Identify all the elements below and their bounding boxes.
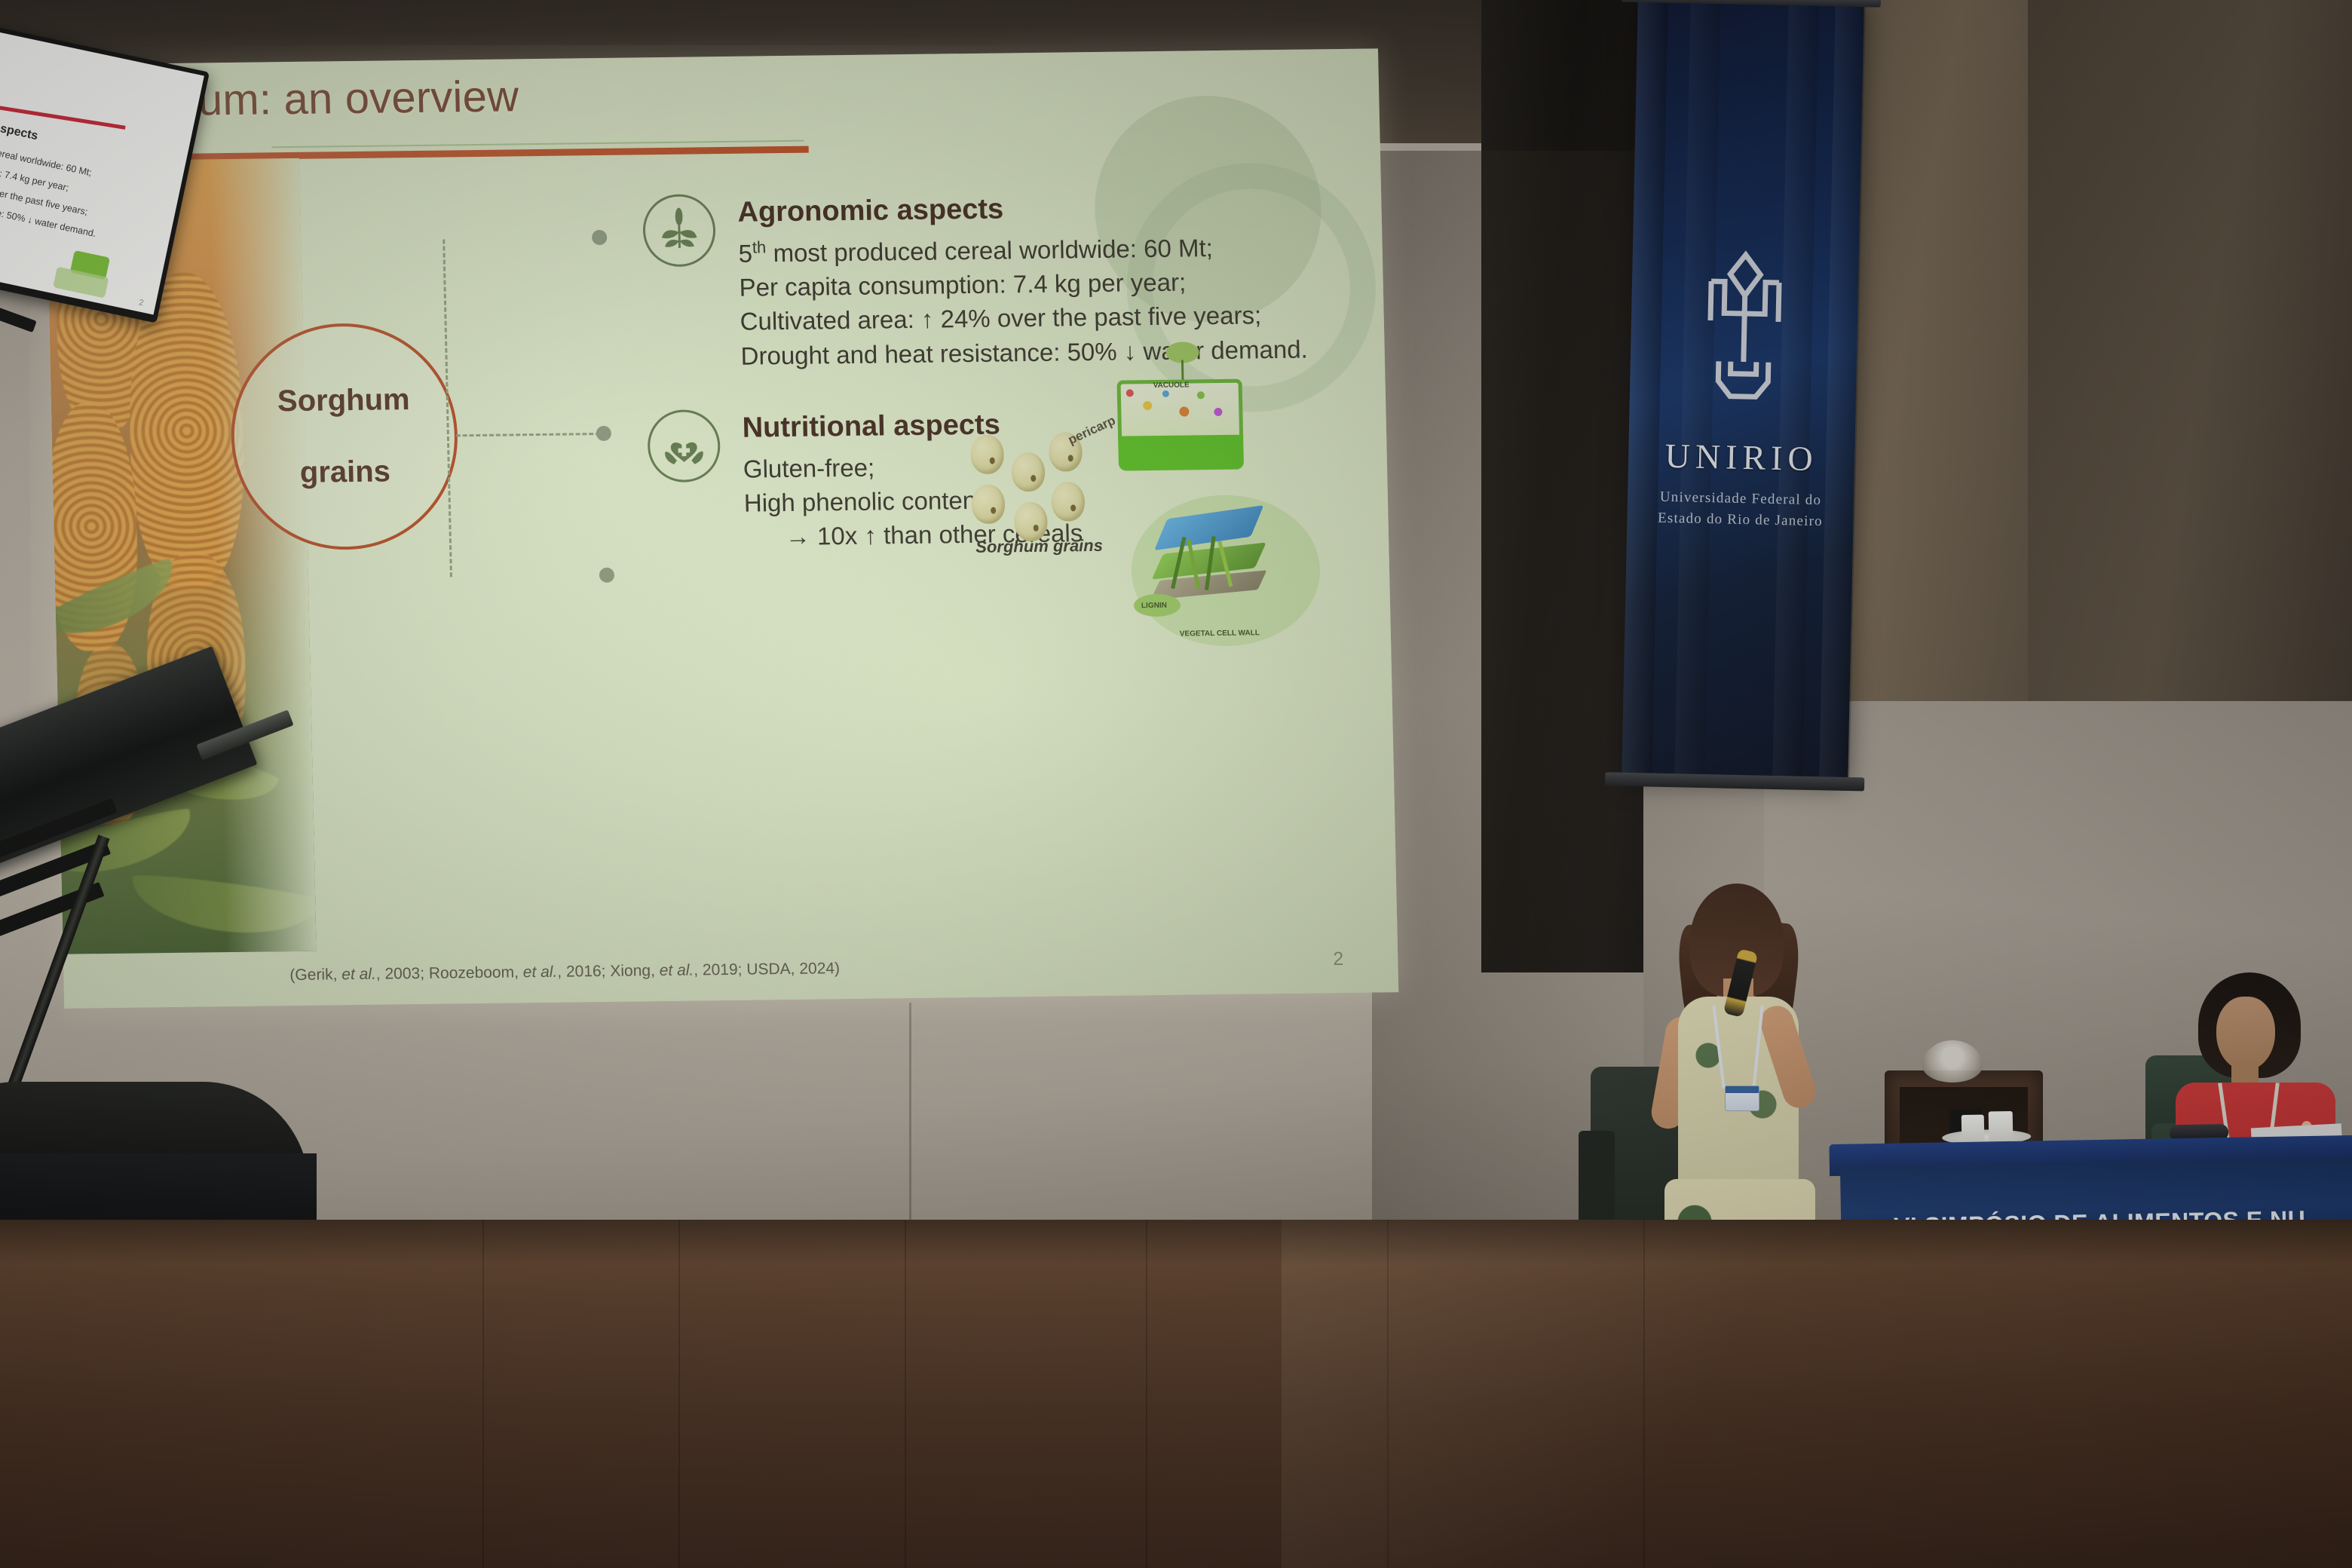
slide-page-number: 2 — [1333, 948, 1344, 970]
connector-dot-mid — [596, 426, 611, 441]
connector-dot-top — [592, 230, 607, 245]
conference-stage-scene: Sorghum: an overview Sorghum g — [0, 0, 2352, 1568]
monitor-page-number: 2 — [138, 298, 144, 308]
sorghum-grains-figure — [963, 429, 1116, 551]
cell-wall-diagram: LIGNIN VEGETAL CELL WALL — [1130, 494, 1321, 647]
connector-dot-bottom — [599, 568, 614, 583]
plant-cell-diagram: VACUOLE — [1103, 353, 1257, 498]
cell-wall-label: VEGETAL CELL WALL — [1180, 629, 1260, 638]
unirio-trident-logo — [1686, 247, 1802, 427]
panelist-face — [2216, 997, 2275, 1070]
table-cup-1 — [1962, 1115, 1985, 1146]
unirio-banner-subtitle: Universidade Federal do Estado do Rio de… — [1627, 486, 1854, 532]
node-line-1: Sorghum — [277, 382, 411, 419]
agronomic-heading: Agronomic aspects — [737, 190, 1305, 229]
monitor-heading: ...omic aspects — [0, 112, 39, 143]
vacuole-label: VACUOLE — [1153, 381, 1190, 390]
lignin-label: LIGNIN — [1141, 602, 1167, 610]
connector-horizontal — [456, 433, 607, 436]
wall-seam — [909, 1003, 911, 1229]
stage-floor — [0, 1220, 2352, 1568]
heart-in-hands-icon — [647, 409, 721, 482]
unirio-banner: UNIRIO Universidade Federal do Estado do… — [1622, 0, 1864, 786]
grains-caption: Sorghum grains — [975, 536, 1103, 557]
unirio-banner-name: UNIRIO — [1628, 435, 1855, 479]
table-cup-2 — [1989, 1111, 2014, 1145]
node-line-2: grains — [279, 454, 412, 491]
section-agronomic: Agronomic aspects 5th most produced cere… — [737, 190, 1308, 373]
speaker-badge — [1725, 1086, 1759, 1111]
sorghum-plant-icon — [642, 194, 716, 267]
